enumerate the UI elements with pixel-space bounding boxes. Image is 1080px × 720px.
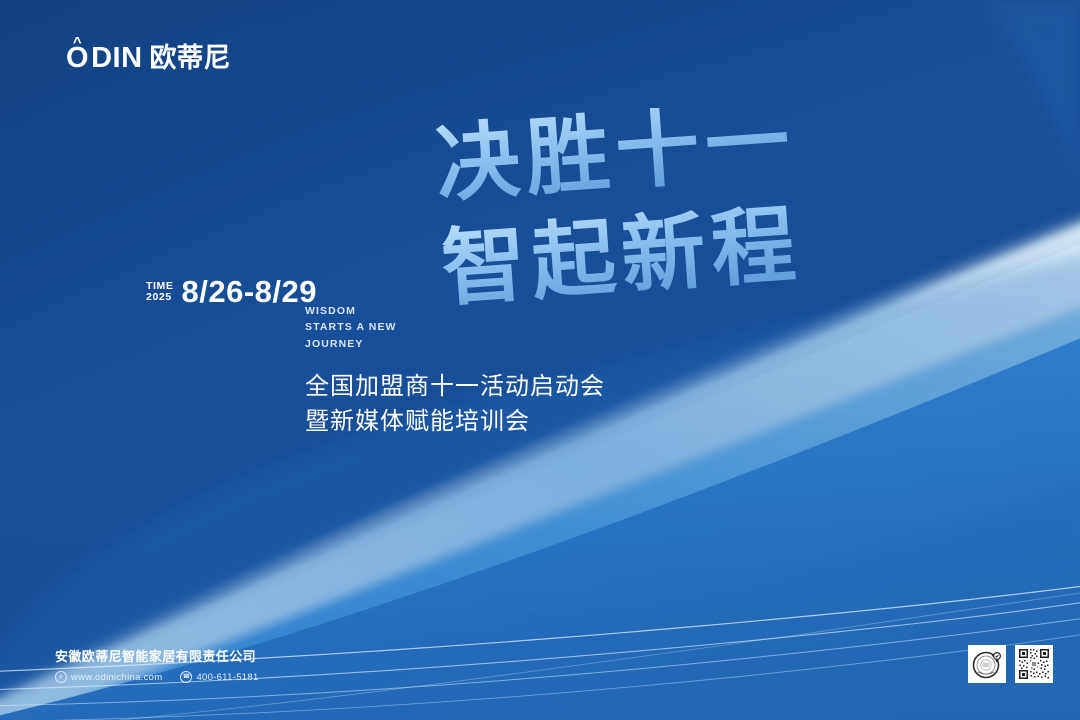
phone-icon: ☎ — [180, 671, 192, 683]
headline-calligraphy: 决胜十一 智起新程 — [430, 108, 930, 343]
website-text: www.odinichina.com — [71, 672, 162, 683]
subtitle-line-2: 暨新媒体赋能培训会 — [305, 405, 605, 440]
code-tiles — [968, 645, 1053, 683]
tagline-line-3: JOURNEY — [305, 336, 397, 352]
qr-code-icon — [1017, 647, 1051, 681]
official-seal-badge[interactable] — [968, 645, 1006, 683]
seal-icon — [970, 647, 1004, 681]
tagline-line-2: STARTS A NEW — [305, 319, 397, 335]
website-item[interactable]: e www.odinichina.com — [55, 671, 162, 683]
event-date-block: TIME 2025 8/26-8/29 — [146, 276, 317, 307]
footer-contact-row: e www.odinichina.com ☎ 400-611-5181 — [55, 671, 259, 683]
footer-block: 安徽欧蒂尼智能家居有限责任公司 e www.odinichina.com ☎ 4… — [55, 646, 259, 683]
phone-item[interactable]: ☎ 400-611-5181 — [180, 671, 258, 683]
globe-icon: e — [55, 671, 67, 683]
date-range: 8/26-8/29 — [181, 276, 317, 307]
headline-line-2: 智起新程 — [438, 194, 804, 318]
logo-circumflex-icon: ^ — [73, 35, 82, 50]
brand-logo: ^ O DIN 欧蒂尼 — [66, 44, 231, 73]
subtitle-line-1: 全国加盟商十一活动启动会 — [305, 370, 605, 405]
time-label-stack: TIME 2025 — [146, 281, 173, 307]
logo-o-letter: ^ O — [66, 44, 89, 73]
phone-text: 400-611-5181 — [196, 672, 258, 683]
event-poster: ^ O DIN 欧蒂尼 决胜十一 智起新程 TIME 2025 8/26-8/2… — [0, 0, 1080, 720]
english-tagline: WISDOM STARTS A NEW JOURNEY — [305, 303, 397, 352]
tagline-line-1: WISDOM — [305, 303, 397, 319]
company-name: 安徽欧蒂尼智能家居有限责任公司 — [55, 646, 259, 665]
logo-chinese-text: 欧蒂尼 — [150, 45, 231, 72]
logo-latin-text: DIN — [91, 44, 142, 73]
event-subtitle: 全国加盟商十一活动启动会 暨新媒体赋能培训会 — [305, 370, 605, 440]
qr-code[interactable] — [1015, 645, 1053, 683]
year-label: 2025 — [146, 292, 173, 303]
